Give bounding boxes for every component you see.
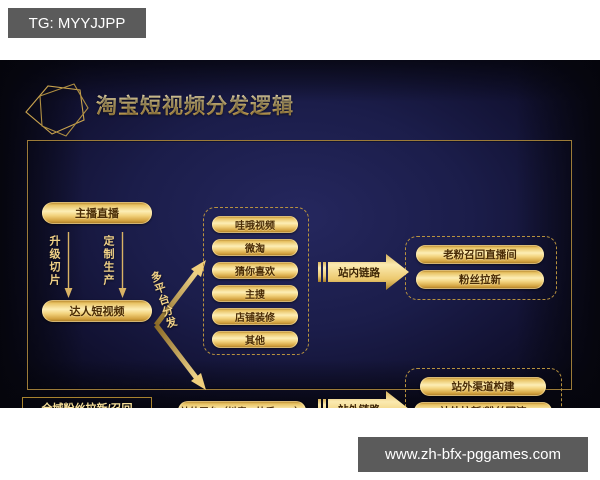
channel-item-5[interactable]: 其他	[212, 331, 298, 348]
arrow-external-link: 站外链路	[318, 390, 410, 408]
edge-label-custom: 定制生产	[100, 235, 116, 287]
slide-panel: 淘宝短视频分发逻辑 主播直播 升级切片 定制生产 达人短视频 多平台分	[0, 60, 600, 408]
node-external-platform[interactable]: 站外平台（抖音、快手……）	[178, 401, 306, 408]
watermark-top-left: TG: MYYJJPP	[8, 8, 146, 38]
node-talent-short-video[interactable]: 达人短视频	[42, 300, 152, 322]
watermark-bottom-right: www.zh-bfx-pggames.com	[358, 437, 588, 472]
arrow-external-label: 站外链路	[328, 390, 390, 408]
internal-outcome-1[interactable]: 粉丝拉新	[416, 270, 544, 289]
edge-label-upgrade: 升级切片	[46, 235, 62, 287]
channel-item-3[interactable]: 主搜	[212, 285, 298, 302]
page-title: 淘宝短视频分发逻辑	[96, 90, 294, 120]
external-outcome-1[interactable]: 站外拉新/粉丝回流	[414, 402, 552, 408]
arrow-internal-link: 站内链路	[318, 253, 410, 291]
channel-item-1[interactable]: 微淘	[212, 239, 298, 256]
down-arrow-icon-2	[118, 232, 127, 298]
channel-item-4[interactable]: 店铺装修	[212, 308, 298, 325]
external-outcome-0[interactable]: 站外渠道构建	[420, 377, 546, 396]
internal-outcome-0[interactable]: 老粉召回直播间	[416, 245, 544, 264]
node-host-livestream[interactable]: 主播直播	[42, 202, 152, 224]
arrow-internal-label: 站内链路	[328, 253, 390, 291]
recall-line-1: 全域粉丝拉新/召回	[41, 402, 132, 408]
channel-item-0[interactable]: 哇哦视频	[212, 216, 298, 233]
polygon-outline-icon	[22, 82, 94, 144]
recall-summary-box: 全域粉丝拉新/召回 直播间回流	[22, 397, 152, 408]
down-arrow-icon-1	[64, 232, 73, 298]
channel-item-2[interactable]: 猜你喜欢	[212, 262, 298, 279]
